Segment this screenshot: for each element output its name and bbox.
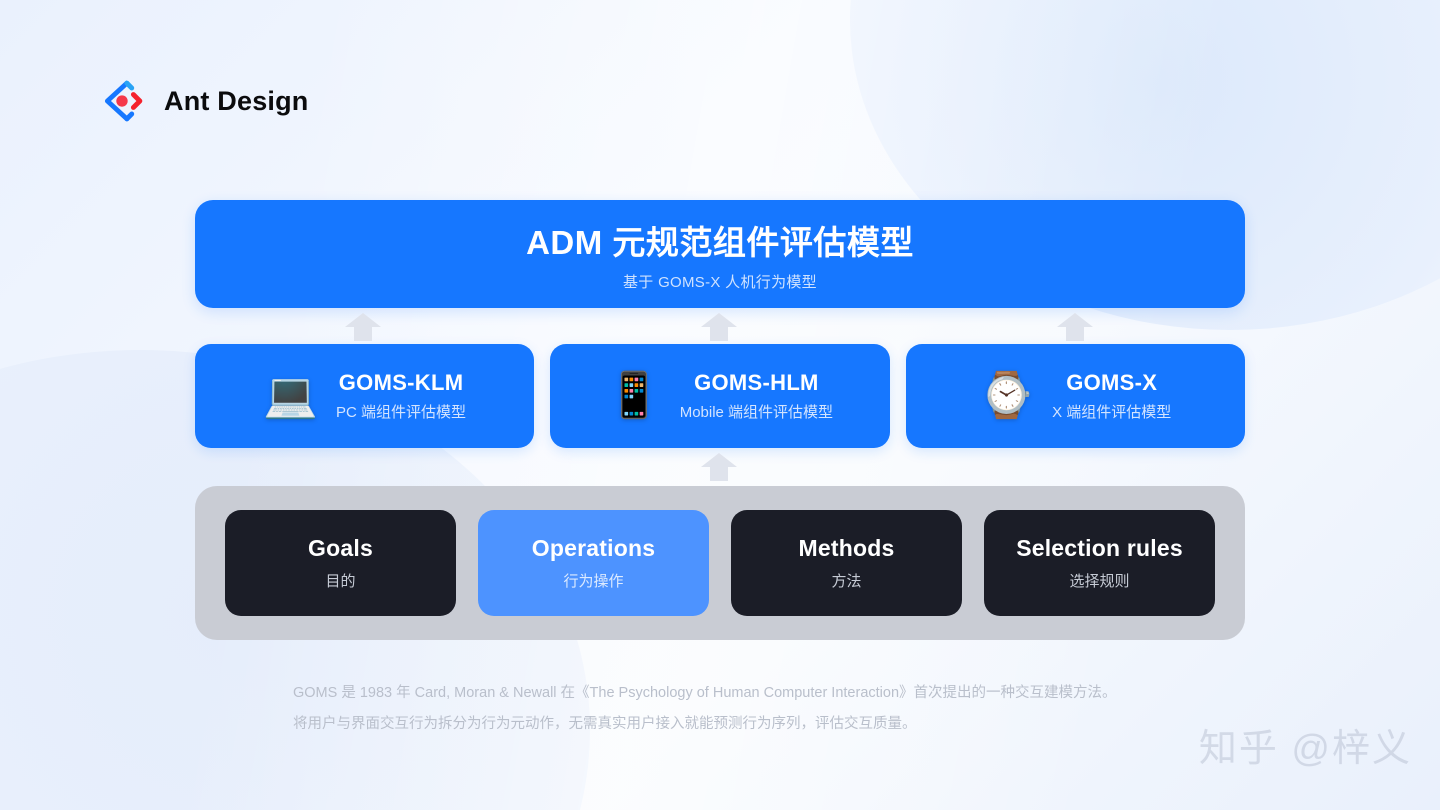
goms-box-title: Operations (532, 535, 655, 562)
goms-box-subtitle: 方法 (831, 570, 861, 591)
goms-box-goals[interactable]: Goals 目的 (225, 510, 456, 616)
up-arrow-icon (699, 312, 739, 342)
footnote-line-1: GOMS 是 1983 年 Card, Moran & Newall 在《The… (293, 678, 1193, 709)
goms-box-title: Selection rules (1016, 535, 1183, 562)
platform-card-title: GOMS-KLM (339, 370, 464, 396)
up-arrow-icon (343, 312, 383, 342)
goms-panel: Goals 目的 Operations 行为操作 Methods 方法 Sele… (195, 486, 1245, 640)
goms-box-subtitle: 行为操作 (563, 570, 623, 591)
up-arrow-icon (1055, 312, 1095, 342)
platform-card-subtitle: X 端组件评估模型 (1052, 401, 1171, 422)
goms-box-operations[interactable]: Operations 行为操作 (478, 510, 709, 616)
watch-icon: ⌚ (979, 374, 1034, 418)
ant-design-logo-icon (96, 75, 148, 127)
watermark: 知乎 @梓义 (1199, 717, 1412, 772)
platform-card-subtitle: PC 端组件评估模型 (336, 401, 466, 422)
platform-card-goms-klm[interactable]: 💻 GOMS-KLM PC 端组件评估模型 (195, 344, 534, 448)
goms-box-title: Methods (799, 535, 895, 562)
brand-name: Ant Design (164, 86, 309, 117)
laptop-icon: 💻 (263, 374, 318, 418)
platform-card-subtitle: Mobile 端组件评估模型 (680, 401, 833, 422)
mobile-phone-icon: 📱 (607, 374, 662, 418)
page-title: ADM 元规范组件评估模型 (526, 216, 914, 264)
goms-box-title: Goals (308, 535, 373, 562)
adm-header-card: ADM 元规范组件评估模型 基于 GOMS-X 人机行为模型 (195, 200, 1245, 308)
adm-diagram: ADM 元规范组件评估模型 基于 GOMS-X 人机行为模型 💻 GOMS-KL… (195, 200, 1245, 640)
footnote-line-2: 将用户与界面交互行为拆分为行为元动作，无需真实用户接入就能预测行为序列，评估交互… (293, 709, 1193, 740)
up-arrow-icon (699, 452, 739, 482)
goms-box-subtitle: 目的 (325, 570, 355, 591)
arrow-row-top (195, 308, 1245, 344)
platform-card-title: GOMS-HLM (694, 370, 819, 396)
goms-box-subtitle: 选择规则 (1069, 570, 1129, 591)
footnote: GOMS 是 1983 年 Card, Moran & Newall 在《The… (293, 678, 1193, 740)
platform-card-goms-x[interactable]: ⌚ GOMS-X X 端组件评估模型 (906, 344, 1245, 448)
platform-card-row: 💻 GOMS-KLM PC 端组件评估模型 📱 GOMS-HLM Mobile … (195, 344, 1245, 448)
goms-box-methods[interactable]: Methods 方法 (731, 510, 962, 616)
platform-card-title: GOMS-X (1066, 370, 1157, 396)
goms-box-selection-rules[interactable]: Selection rules 选择规则 (984, 510, 1215, 616)
platform-card-goms-hlm[interactable]: 📱 GOMS-HLM Mobile 端组件评估模型 (550, 344, 889, 448)
brand-lockup: Ant Design (96, 75, 309, 127)
page-subtitle: 基于 GOMS-X 人机行为模型 (623, 271, 817, 292)
arrow-row-middle (195, 448, 1245, 486)
